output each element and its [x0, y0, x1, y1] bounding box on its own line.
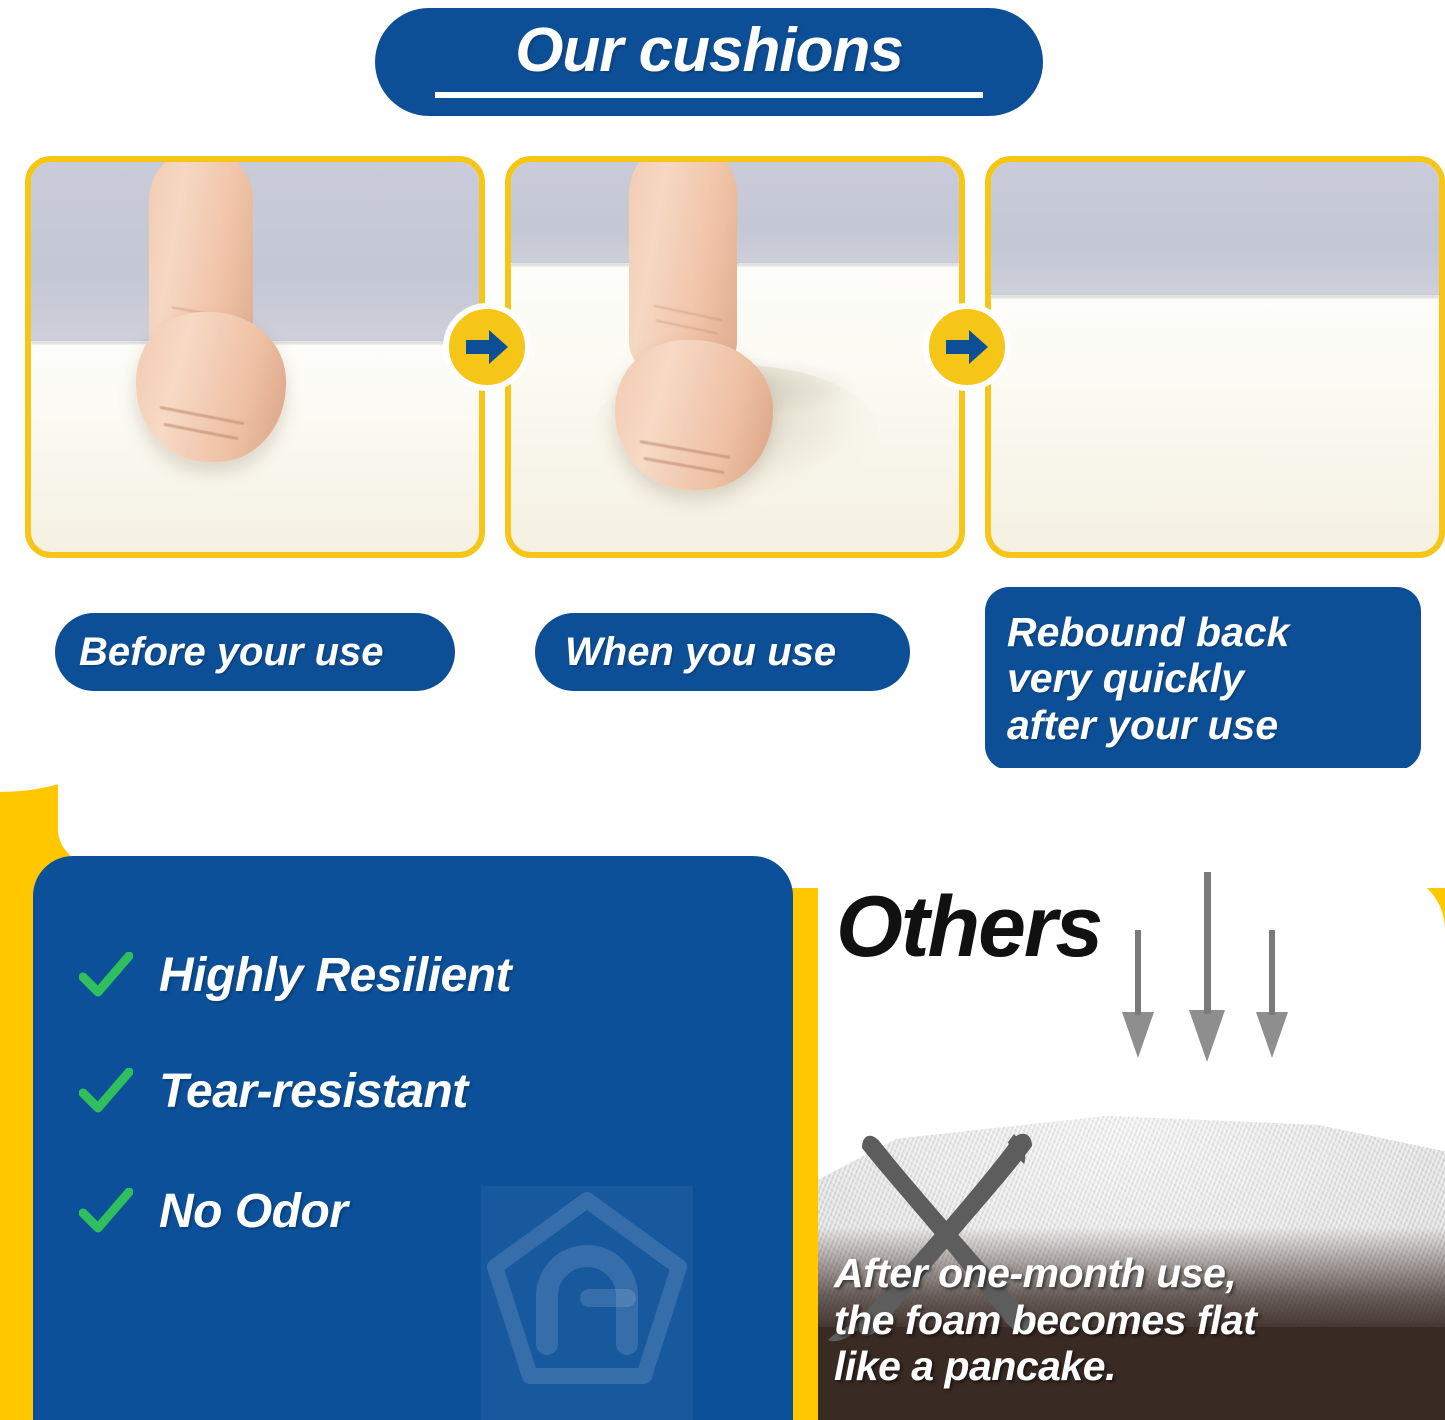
pentagon-logo-icon	[481, 1186, 693, 1420]
page-title-banner: Our cushions	[375, 8, 1043, 116]
brand-watermark	[481, 1186, 693, 1420]
page-title: Our cushions	[515, 20, 903, 82]
caption-line: After one-month use,	[834, 1250, 1434, 1297]
others-comparison-card: Others After one-month use,	[818, 872, 1445, 1420]
caption-line: after your use	[1007, 702, 1278, 748]
check-icon	[79, 1188, 133, 1236]
feature-item-no-odor: No Odor	[79, 1184, 347, 1239]
step-arrow-icon	[923, 303, 1011, 391]
caption-line: the foam becomes flat	[834, 1297, 1434, 1344]
step-photo-after	[985, 156, 1445, 558]
feature-item-tear-resistant: Tear-resistant	[79, 1064, 468, 1119]
pressure-arrow-down-icon	[1252, 930, 1292, 1060]
photo-inner-after	[991, 162, 1439, 552]
right-arrow-icon	[464, 327, 510, 367]
caption-line: Rebound back	[1007, 609, 1289, 655]
fist	[136, 312, 286, 462]
check-icon	[79, 952, 133, 1000]
step-caption-before: Before your use	[55, 613, 455, 691]
feature-item-highly-resilient: Highly Resilient	[79, 948, 511, 1003]
right-arrow-icon	[944, 327, 990, 367]
photo-background-wall	[31, 162, 479, 349]
pressure-arrow-down-icon	[1118, 930, 1158, 1060]
photo-inner-before	[31, 162, 479, 552]
feature-list-panel: Highly Resilient Tear-resistant No Odor	[33, 856, 793, 1420]
step-photo-before	[25, 156, 485, 558]
foam-top-edge	[991, 295, 1439, 298]
feature-label: No Odor	[159, 1184, 347, 1239]
check-icon	[79, 1068, 133, 1116]
others-title: Others	[836, 884, 1101, 970]
title-underline	[435, 92, 983, 98]
caption-line: very quickly	[1007, 655, 1244, 701]
pressure-arrow-down-icon	[1184, 872, 1230, 1064]
infographic-page: Our cushions	[0, 0, 1445, 1420]
feature-label: Highly Resilient	[159, 948, 511, 1003]
step-photo-during	[505, 156, 965, 558]
step-arrow-icon	[443, 303, 531, 391]
feature-label: Tear-resistant	[159, 1064, 468, 1119]
step-caption-during: When you use	[535, 613, 910, 691]
others-caption: After one-month use, the foam becomes fl…	[834, 1250, 1434, 1390]
caption-line: like a pancake.	[834, 1343, 1434, 1390]
photo-inner-during	[511, 162, 959, 552]
foam-slab	[991, 295, 1439, 552]
photo-background-wall	[991, 162, 1439, 302]
step-caption-after: Rebound back very quickly after your use	[985, 587, 1421, 770]
